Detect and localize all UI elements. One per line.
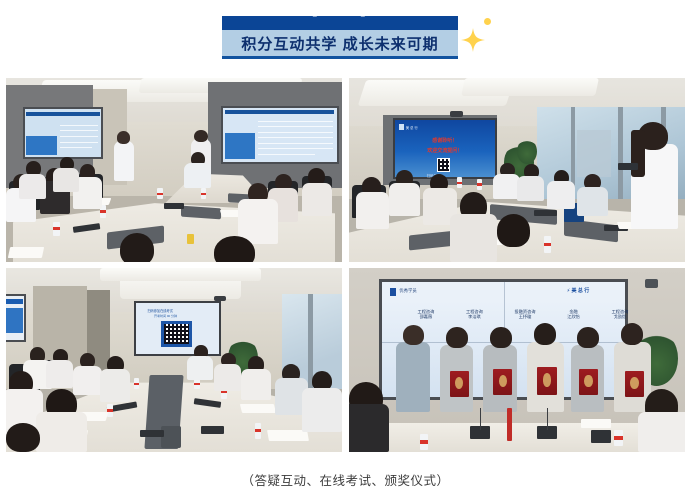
- four-point-star-icon: [461, 28, 485, 52]
- banner-underline: [222, 56, 458, 59]
- photo-grid: 美 总 行 感谢聆听！ 欢迎交流提问！ 扫码关注: [6, 78, 685, 459]
- header-banner: ‘ ‘ 积分互动共学 成长未来可期: [222, 16, 458, 60]
- page-title: 积分互动共学 成长未来可期: [222, 30, 458, 56]
- award-name: 李洁琪: [466, 315, 483, 320]
- award-entry: 工程咨询 戈劭恺: [612, 310, 629, 320]
- award-entry: 金融 江欣怡: [567, 310, 580, 320]
- quote-open-icon-left: ‘: [308, 10, 324, 32]
- slide-heading-line-1: 感谢聆听！: [395, 137, 495, 144]
- banner-top-bar: [222, 16, 458, 30]
- figure-caption: （答疑互动、在线考试、颁奖仪式）: [0, 470, 691, 489]
- award-list: 工程咨询 邵嘉薇 工程咨询 李洁琪 投融资咨询 王抒璇 金融 江欣怡: [382, 310, 663, 320]
- photo-top-right: 美 总 行 感谢聆听！ 欢迎交流提问！ 扫码关注: [349, 78, 685, 262]
- certificate: [579, 369, 598, 395]
- certificate: [537, 367, 556, 395]
- certificate: [625, 371, 644, 397]
- award-name: 戈劭恺: [612, 315, 629, 320]
- slide-heading-line-2: 欢迎交流提问！: [395, 147, 495, 154]
- award-entry: 工程咨询 李洁琪: [466, 310, 483, 320]
- certificate: [493, 369, 512, 395]
- award-slide-heading: 优秀学员: [399, 288, 417, 294]
- company-logo: ⚡ 美 总 行: [567, 287, 590, 294]
- photo-bottom-right: 优秀学员 ⚡ 美 总 行 工程咨询 邵嘉薇 工程咨询 李洁琪: [349, 268, 685, 452]
- award-name: 邵嘉薇: [418, 315, 435, 320]
- certificate: [450, 371, 469, 397]
- award-entry: 工程咨询 邵嘉薇: [418, 310, 435, 320]
- exam-slide-heading: 扫码参加在线考试: [147, 308, 173, 313]
- sparkle-decoration: [459, 14, 499, 62]
- award-name: 江欣怡: [567, 315, 580, 320]
- quote-open-icon-right: ‘: [356, 10, 372, 32]
- photo-top-left: [6, 78, 342, 262]
- photo-bottom-left: 扫码参加在线考试 开考时间 90 分钟: [6, 268, 342, 452]
- award-name: 王抒璇: [515, 315, 536, 320]
- sparkle-dot-icon: [484, 18, 491, 25]
- award-entry: 投融资咨询 王抒璇: [515, 310, 536, 320]
